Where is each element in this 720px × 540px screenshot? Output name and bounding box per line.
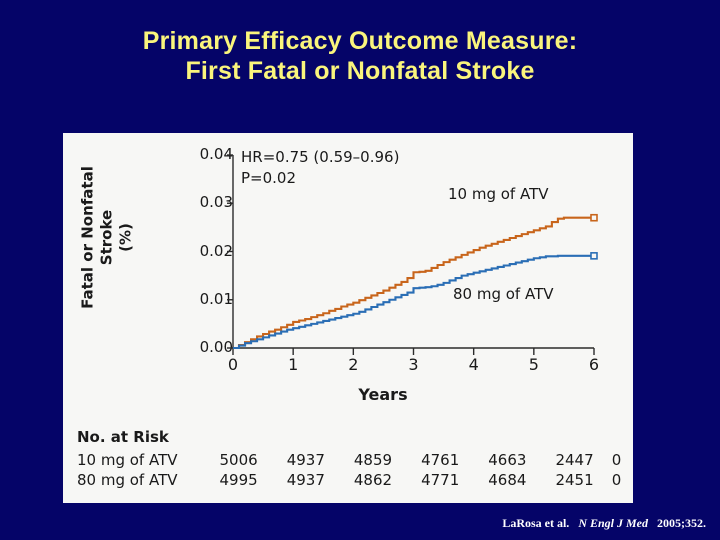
x-tick-label: 6 (582, 355, 606, 374)
risk-table-row: 80 mg of ATV4995493748624771468424510 (77, 470, 625, 490)
page-title-line-1: Primary Efficacy Outcome Measure: (0, 26, 720, 56)
risk-cell: 4995 (205, 470, 272, 490)
risk-table-grid: 10 mg of ATV500649374859476146632447080 … (77, 450, 625, 490)
kaplan-meier-chart: Fatal or Nonfatal Stroke (%) 0.000.010.0… (63, 133, 633, 423)
x-axis-title: Years (233, 385, 533, 404)
statistics-annotation: HR=0.75 (0.59–0.96) P=0.02 (241, 147, 399, 189)
risk-cell: 4937 (272, 470, 339, 490)
citation-authors: LaRosa et al. (502, 516, 569, 530)
x-axis-tick-labels: 0123456 (63, 355, 633, 385)
risk-cell: 2447 (541, 450, 608, 470)
citation-volume: 2005;352. (657, 516, 706, 530)
risk-cell: 5006 (205, 450, 272, 470)
series-label-10mg: 10 mg of ATV (448, 185, 549, 203)
risk-cell: 4771 (407, 470, 474, 490)
risk-cell: 4761 (407, 450, 474, 470)
risk-cell: 4859 (339, 450, 406, 470)
x-tick-label: 5 (522, 355, 546, 374)
x-tick-label: 3 (402, 355, 426, 374)
series-curve-10mg (233, 218, 594, 348)
number-at-risk-title: No. at Risk (77, 428, 625, 446)
risk-cell: 4937 (272, 450, 339, 470)
risk-cell: 4663 (474, 450, 541, 470)
risk-cell: 4684 (474, 470, 541, 490)
series-label-80mg: 80 mg of ATV (453, 285, 554, 303)
page-title: Primary Efficacy Outcome Measure: First … (0, 26, 720, 86)
citation-journal: N Engl J Med (578, 516, 648, 530)
risk-table-row: 10 mg of ATV5006493748594761466324470 (77, 450, 625, 470)
citation: LaRosa et al. N Engl J Med 2005;352. (0, 516, 706, 531)
risk-cell: 0 (608, 470, 625, 490)
risk-row-label: 10 mg of ATV (77, 450, 205, 470)
series-end-marker-10mg (591, 215, 597, 221)
x-tick-label: 1 (281, 355, 305, 374)
risk-cell: 2451 (541, 470, 608, 490)
x-tick-label: 0 (221, 355, 245, 374)
risk-cell: 4862 (339, 470, 406, 490)
x-tick-label: 4 (462, 355, 486, 374)
page-title-line-2: First Fatal or Nonfatal Stroke (0, 56, 720, 86)
series-end-marker-80mg (591, 253, 597, 259)
figure-panel: Fatal or Nonfatal Stroke (%) 0.000.010.0… (63, 133, 633, 503)
risk-cell: 0 (608, 450, 625, 470)
risk-row-label: 80 mg of ATV (77, 470, 205, 490)
hazard-ratio-text: HR=0.75 (0.59–0.96) (241, 147, 399, 168)
x-tick-label: 2 (341, 355, 365, 374)
p-value-text: P=0.02 (241, 168, 399, 189)
number-at-risk-table: No. at Risk 10 mg of ATV5006493748594761… (77, 428, 625, 490)
